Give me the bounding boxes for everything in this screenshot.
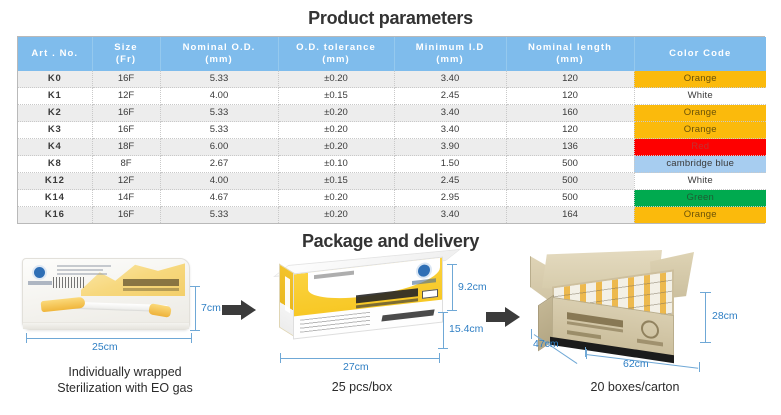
pouch-barcode xyxy=(53,277,85,288)
cell-od-tolerance: ±0.15 xyxy=(278,88,394,105)
package-caption-carton: 20 boxes/carton xyxy=(505,379,765,395)
dimension-line-horizontal xyxy=(280,358,440,359)
cell-od-tolerance: ±0.15 xyxy=(278,173,394,190)
cell-color-code: Orange xyxy=(634,71,766,88)
dimension-label-box-height: 9.2cm xyxy=(458,281,487,293)
cell-color-code: Orange xyxy=(634,122,766,139)
column-header-nominal-od: Nominal O.D. (mm) xyxy=(160,37,278,71)
table-row: K216F5.33±0.203.40160Orange xyxy=(18,105,766,122)
cell-minimum-id: 3.40 xyxy=(394,122,506,139)
dimension-label-pouch-height: 7cm xyxy=(201,302,221,314)
cell-color-code: White xyxy=(634,88,766,105)
cell-size: 16F xyxy=(92,71,160,88)
dimension-tick xyxy=(191,333,192,343)
cell-minimum-id: 3.40 xyxy=(394,71,506,88)
cell-nominal-length: 120 xyxy=(506,71,634,88)
arrow-head xyxy=(505,307,520,327)
column-header-nominal-length: Nominal length (mm) xyxy=(506,37,634,71)
caption-line-1: 20 boxes/carton xyxy=(505,379,765,395)
cell-art-no: K14 xyxy=(18,190,92,207)
dimension-tick xyxy=(699,362,700,372)
cell-minimum-id: 2.45 xyxy=(394,88,506,105)
dimension-tick xyxy=(190,286,200,287)
table-row: K316F5.33±0.203.40120Orange xyxy=(18,122,766,139)
package-caption-individual: Individually wrapped Sterilization with … xyxy=(0,364,255,396)
column-header-unit: (mm) xyxy=(397,54,504,66)
cell-size: 16F xyxy=(92,122,160,139)
dimension-tick xyxy=(438,348,448,349)
pouch-text-line xyxy=(57,273,107,275)
caption-line-1: 25 pcs/box xyxy=(232,379,492,395)
cell-color-code: cambridge blue xyxy=(634,156,766,173)
column-header-art-no: Art . No. xyxy=(18,37,92,71)
cell-size: 8F xyxy=(92,156,160,173)
cell-nominal-length: 120 xyxy=(506,88,634,105)
carton-stamp-icon xyxy=(641,319,659,340)
dimension-line-vertical xyxy=(452,264,453,310)
pouch-text-line xyxy=(57,269,103,271)
column-header-unit: (Fr) xyxy=(95,54,158,66)
column-header-od-tolerance: O.D. tolerance (mm) xyxy=(278,37,394,71)
package-image-printed-box xyxy=(277,255,447,341)
table-body: K016F5.33±0.203.40120OrangeK112F4.00±0.1… xyxy=(18,71,766,223)
arrow-shaft xyxy=(486,312,506,322)
cell-od-tolerance: ±0.20 xyxy=(278,71,394,88)
dimension-line-horizontal xyxy=(26,338,192,339)
cell-nominal-length: 500 xyxy=(506,156,634,173)
cell-od-tolerance: ±0.10 xyxy=(278,156,394,173)
cell-nominal-od: 4.67 xyxy=(160,190,278,207)
column-header-size: Size (Fr) xyxy=(92,37,160,71)
page-title-product-parameters: Product parameters xyxy=(0,8,781,29)
column-header-unit: (mm) xyxy=(509,54,632,66)
table-row: K016F5.33±0.203.40120Orange xyxy=(18,71,766,88)
cell-nominal-od: 5.33 xyxy=(160,105,278,122)
cell-minimum-id: 3.90 xyxy=(394,139,506,156)
cell-nominal-od: 2.67 xyxy=(160,156,278,173)
cell-od-tolerance: ±0.20 xyxy=(278,190,394,207)
cell-art-no: K12 xyxy=(18,173,92,190)
dimension-tick xyxy=(700,292,711,293)
cell-minimum-id: 2.45 xyxy=(394,173,506,190)
dimension-label-pouch-width: 25cm xyxy=(92,341,118,353)
dimension-tick xyxy=(531,329,532,339)
cell-nominal-od: 4.00 xyxy=(160,173,278,190)
cell-od-tolerance: ±0.20 xyxy=(278,122,394,139)
dimension-label-box-depth: 15.4cm xyxy=(449,323,483,335)
cell-size: 16F xyxy=(92,105,160,122)
dimension-tick xyxy=(438,312,448,313)
table-row: K1616F5.33±0.203.40164Orange xyxy=(18,207,766,224)
package-caption-box: 25 pcs/box xyxy=(232,379,492,395)
column-header-label: Nominal O.D. xyxy=(183,42,256,53)
column-header-label: Minimum I.D xyxy=(416,42,485,53)
page-title-package-and-delivery: Package and delivery xyxy=(0,231,781,252)
caption-line-1: Individually wrapped xyxy=(0,364,255,380)
pouch-seal-edge xyxy=(23,322,189,329)
cell-nominal-od: 5.33 xyxy=(160,122,278,139)
cell-art-no: K0 xyxy=(18,71,92,88)
cell-od-tolerance: ±0.20 xyxy=(278,139,394,156)
column-header-minimum-id: Minimum I.D (mm) xyxy=(394,37,506,71)
table-header-row: Art . No. Size (Fr) Nominal O.D. (mm) O.… xyxy=(18,37,766,71)
cell-art-no: K2 xyxy=(18,105,92,122)
cell-art-no: K16 xyxy=(18,207,92,224)
product-spec-page: Product parameters Art . No. Size (Fr) N xyxy=(0,0,781,415)
product-parameters-table: Art . No. Size (Fr) Nominal O.D. (mm) O.… xyxy=(17,36,765,224)
column-header-label: O.D. tolerance xyxy=(296,42,376,53)
column-header-color-code: Color Code xyxy=(634,37,766,71)
cell-color-code: Red xyxy=(634,139,766,156)
pouch-english-subtitle xyxy=(123,288,179,291)
dimension-label-box-width: 27cm xyxy=(343,361,369,373)
cell-minimum-id: 2.95 xyxy=(394,190,506,207)
cell-nominal-od: 6.00 xyxy=(160,139,278,156)
dimension-line-vertical xyxy=(705,292,706,342)
box-brand-text xyxy=(381,309,434,321)
box-brand-vertical-text xyxy=(285,276,290,313)
cell-color-code: White xyxy=(634,173,766,190)
dimension-label-carton-width: 62cm xyxy=(623,358,649,370)
column-header-label: Nominal length xyxy=(528,42,612,53)
arrow-head xyxy=(241,300,256,320)
dimension-tick xyxy=(439,353,440,363)
column-header-unit: (mm) xyxy=(281,54,392,66)
dimension-tick xyxy=(447,264,457,265)
cell-minimum-id: 1.50 xyxy=(394,156,506,173)
table-row: K418F6.00±0.203.90136Red xyxy=(18,139,766,156)
cell-color-code: Green xyxy=(634,190,766,207)
carton-stamp-caption xyxy=(637,339,663,347)
cell-nominal-length: 164 xyxy=(506,207,634,224)
column-header-label: Size xyxy=(114,42,137,53)
cell-nominal-od: 5.33 xyxy=(160,71,278,88)
cell-size: 12F xyxy=(92,173,160,190)
table-row: K112F4.00±0.152.45120White xyxy=(18,88,766,105)
dimension-tick xyxy=(190,330,200,331)
box-info-text-block xyxy=(300,312,370,333)
dimension-tick xyxy=(585,347,586,357)
dimension-tick xyxy=(26,333,27,343)
manufacturer-logo-icon xyxy=(32,265,47,280)
column-header-label: Color Code xyxy=(669,48,731,59)
cell-color-code: Orange xyxy=(634,207,766,224)
cell-art-no: K3 xyxy=(18,122,92,139)
cell-nominal-length: 120 xyxy=(506,122,634,139)
cell-minimum-id: 3.40 xyxy=(394,105,506,122)
cell-size: 12F xyxy=(92,88,160,105)
carton-secondary-text xyxy=(567,330,601,339)
cell-od-tolerance: ±0.20 xyxy=(278,105,394,122)
cell-art-no: K4 xyxy=(18,139,92,156)
caption-line-2: Sterilization with EO gas xyxy=(0,380,255,396)
pouch-bag xyxy=(22,258,190,330)
cell-size: 14F xyxy=(92,190,160,207)
cell-nominal-length: 500 xyxy=(506,190,634,207)
dimension-tick xyxy=(700,342,711,343)
suction-tube-connector-left xyxy=(41,297,86,313)
cell-color-code: Orange xyxy=(634,105,766,122)
cell-art-no: K8 xyxy=(18,156,92,173)
cell-nominal-od: 5.33 xyxy=(160,207,278,224)
pouch-logo-caption xyxy=(28,281,52,285)
cell-size: 16F xyxy=(92,207,160,224)
cell-size: 18F xyxy=(92,139,160,156)
cell-nominal-length: 500 xyxy=(506,173,634,190)
cell-nominal-length: 160 xyxy=(506,105,634,122)
pouch-text-line xyxy=(57,265,111,267)
dimension-tick xyxy=(280,353,281,363)
dimension-line-vertical xyxy=(195,286,196,330)
right-arrow-icon xyxy=(222,300,256,320)
table-row: K88F2.67±0.101.50500cambridge blue xyxy=(18,156,766,173)
dimension-label-carton-depth: 47cm xyxy=(533,338,559,350)
cell-nominal-length: 136 xyxy=(506,139,634,156)
pouch-chinese-title xyxy=(123,279,179,286)
column-header-unit: (mm) xyxy=(163,54,276,66)
arrow-shaft xyxy=(222,305,242,315)
cell-art-no: K1 xyxy=(18,88,92,105)
package-image-individual-pouch xyxy=(22,258,190,330)
dimension-line-vertical xyxy=(443,312,444,348)
package-and-delivery-section: 7cm 25cm Individually wrapped Sterilizat… xyxy=(0,250,781,415)
table-row: K1414F4.67±0.202.95500Green xyxy=(18,190,766,207)
cell-minimum-id: 3.40 xyxy=(394,207,506,224)
dimension-label-carton-height: 28cm xyxy=(712,310,738,322)
dimension-tick xyxy=(447,310,457,311)
cell-nominal-od: 4.00 xyxy=(160,88,278,105)
table-row: K1212F4.00±0.152.45500White xyxy=(18,173,766,190)
cell-od-tolerance: ±0.20 xyxy=(278,207,394,224)
column-header-label: Art . No. xyxy=(31,48,78,59)
right-arrow-icon xyxy=(486,307,520,327)
dimension-tick xyxy=(586,349,587,359)
